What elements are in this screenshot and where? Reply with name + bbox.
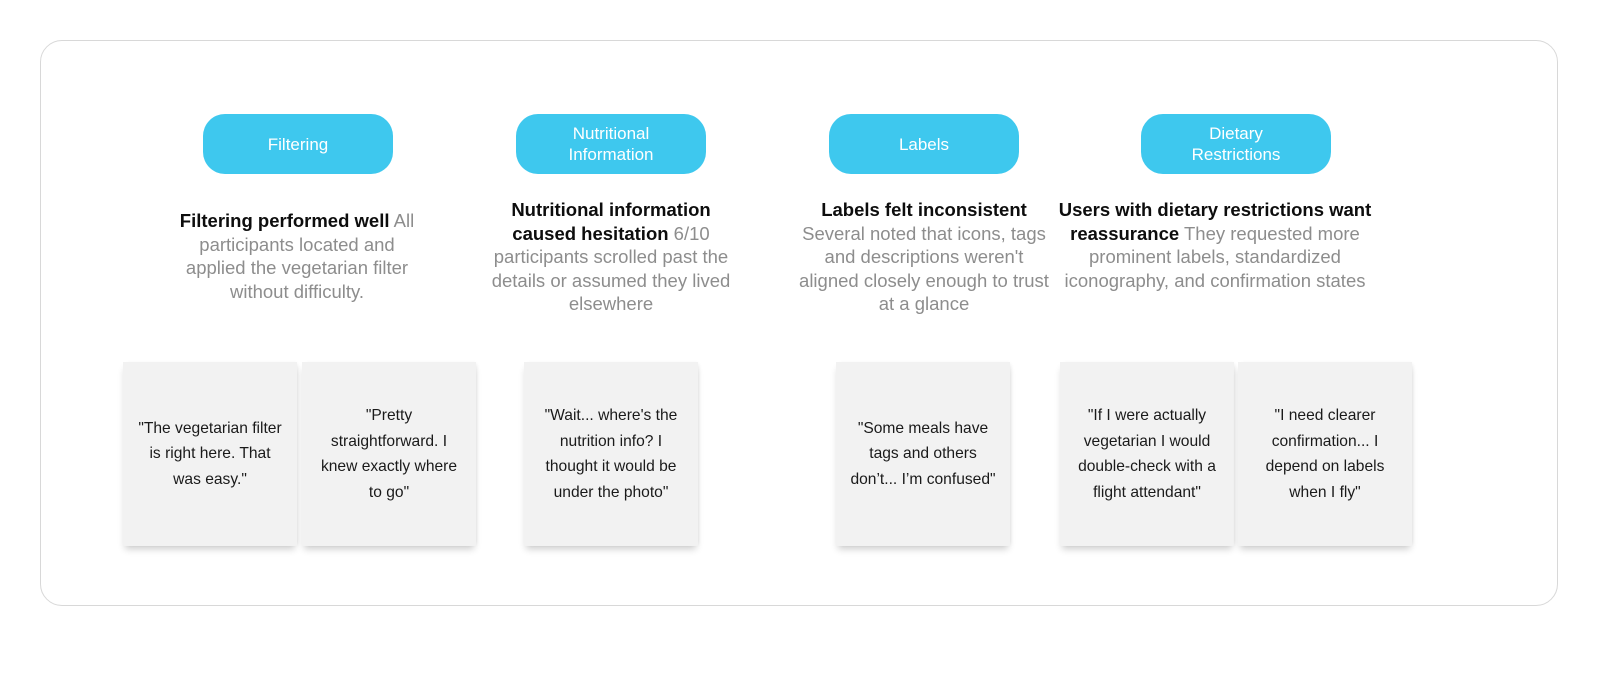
finding-text-nutritional-information: Nutritional information caused hesitatio… [486, 198, 736, 316]
finding-text-filtering: Filtering performed well All participant… [177, 209, 417, 303]
quote-note-text: "The vegetarian filter is right here. Th… [134, 416, 286, 493]
quote-note-text: "Some meals have tags and others don’t..… [847, 416, 999, 493]
category-pill-labels[interactable]: Labels [829, 114, 1019, 174]
quote-note[interactable]: "Some meals have tags and others don’t..… [836, 362, 1010, 546]
finding-body-labels: Several noted that icons, tags and descr… [799, 223, 1049, 315]
findings-board-card: Filtering Filtering performed well All p… [40, 40, 1558, 606]
quote-note[interactable]: "Pretty straightforward. I knew exactly … [302, 362, 476, 546]
finding-text-dietary-restrictions: Users with dietary restrictions want rea… [1047, 198, 1383, 292]
finding-text-labels: Labels felt inconsistent Several noted t… [799, 198, 1049, 316]
finding-lead-labels: Labels felt inconsistent [821, 199, 1027, 220]
category-pill-filtering[interactable]: Filtering [203, 114, 393, 174]
quote-note[interactable]: "If I were actually vegetarian I would d… [1060, 362, 1234, 546]
quote-note-text: "Pretty straightforward. I knew exactly … [313, 403, 465, 505]
quote-note-text: "Wait... where's the nutrition info? I t… [535, 403, 687, 505]
category-pill-dietary-restrictions[interactable]: Dietary Restrictions [1141, 114, 1331, 174]
quote-note[interactable]: "I need clearer confirmation... I depend… [1238, 362, 1412, 546]
category-pill-nutritional-information[interactable]: Nutritional Information [516, 114, 706, 174]
quote-note-text: "I need clearer confirmation... I depend… [1249, 403, 1401, 505]
finding-lead-filtering: Filtering performed well [180, 210, 390, 231]
quote-note[interactable]: "Wait... where's the nutrition info? I t… [524, 362, 698, 546]
quote-note[interactable]: "The vegetarian filter is right here. Th… [123, 362, 297, 546]
quote-note-text: "If I were actually vegetarian I would d… [1071, 403, 1223, 505]
